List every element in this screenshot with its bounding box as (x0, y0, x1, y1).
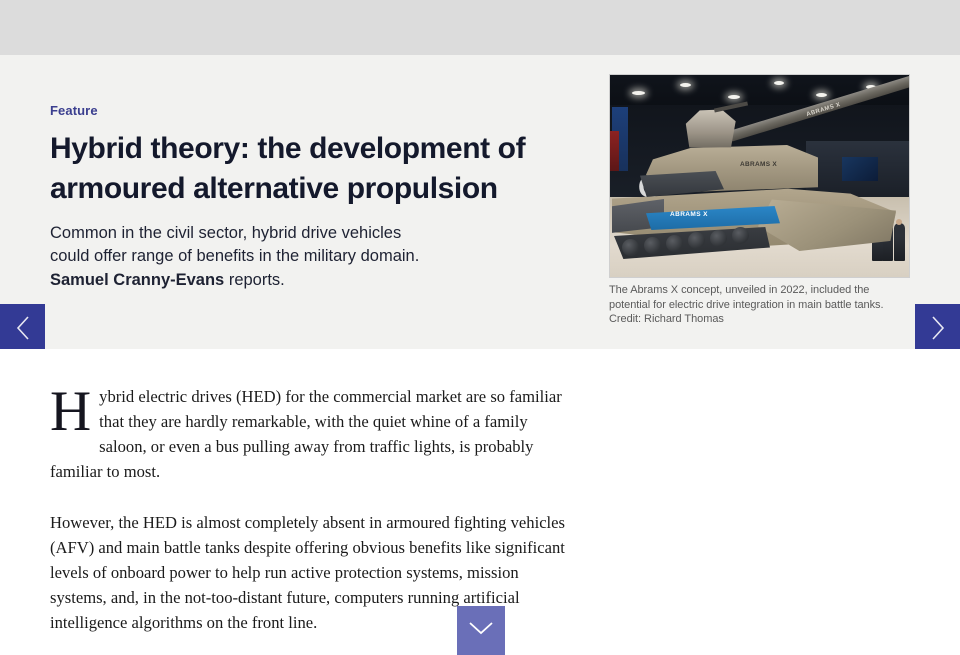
caption-line-1: The Abrams X concept, unveiled in 2022, … (609, 284, 869, 296)
next-article-button[interactable] (915, 304, 960, 351)
page-title: Hybrid theory: the development of armour… (50, 129, 580, 209)
standfirst-line-1: Common in the civil sector, hybrid drive… (50, 224, 401, 242)
author-name: Samuel Cranny-Evans (50, 271, 224, 289)
browser-chrome-bar (0, 0, 960, 55)
hero-text-block: Feature Hybrid theory: the development o… (50, 103, 580, 292)
hero-figure: G ABRAMS X ABRAMS X (609, 74, 910, 327)
byline-suffix: reports. (224, 271, 285, 289)
caption-line-2: potential for electric drive integration… (609, 299, 884, 311)
article-standfirst: Common in the civil sector, hybrid drive… (50, 222, 580, 292)
chevron-left-icon (15, 315, 31, 341)
page-viewport: Feature Hybrid theory: the development o… (0, 0, 960, 655)
scroll-down-button[interactable] (457, 606, 505, 655)
hero-section: Feature Hybrid theory: the development o… (0, 55, 960, 349)
standfirst-line-2: could offer range of benefits in the mil… (50, 247, 419, 265)
caption-credit: Credit: Richard Thomas (609, 313, 724, 325)
chevron-down-icon (468, 620, 494, 641)
image-caption: The Abrams X concept, unveiled in 2022, … (609, 283, 910, 327)
turret-badge: ABRAMS X (740, 161, 777, 168)
hull-badge: ABRAMS X (670, 211, 708, 218)
paragraph-1-text: Hybrid electric drives (HED) for the com… (50, 387, 562, 481)
article-kicker: Feature (50, 103, 580, 118)
hero-image: G ABRAMS X ABRAMS X (609, 74, 910, 278)
chevron-right-icon (930, 315, 946, 341)
previous-article-button[interactable] (0, 304, 45, 351)
article-paragraph-1: HHybrid electric drives (HED) for the co… (50, 384, 570, 484)
